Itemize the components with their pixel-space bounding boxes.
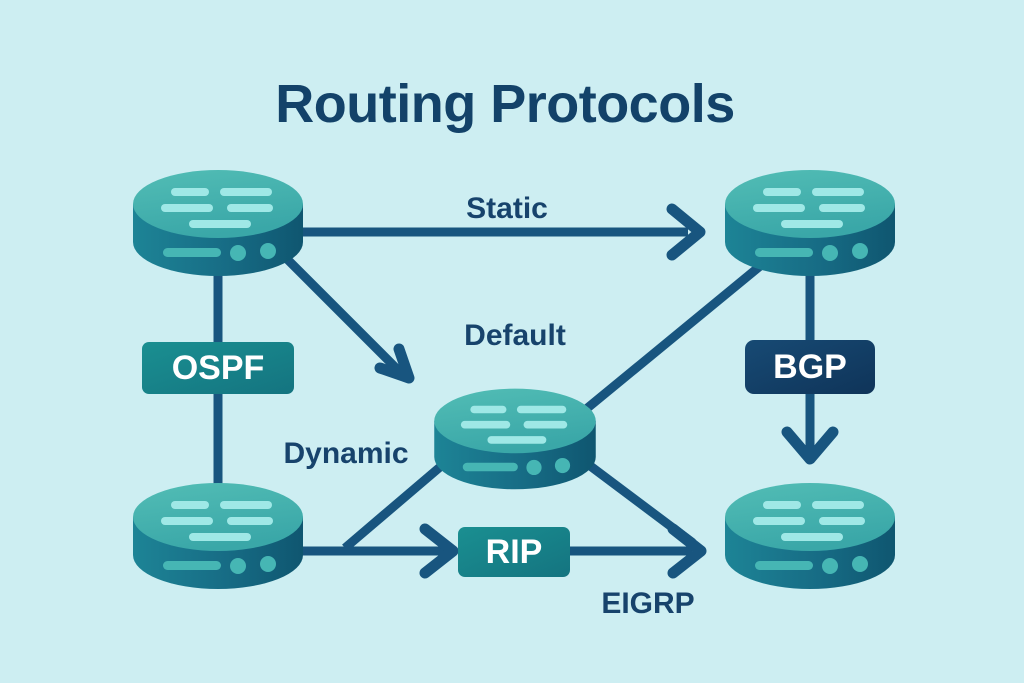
page-title: Routing Protocols bbox=[275, 74, 734, 134]
router-top-left[interactable] bbox=[133, 170, 303, 276]
badge-rip-label: RIP bbox=[486, 533, 543, 571]
edge-label-eigrp: EIGRP bbox=[601, 587, 694, 620]
badge-bgp[interactable]: BGP bbox=[745, 340, 875, 394]
edge-center-topright-line bbox=[585, 262, 765, 410]
edge-label-static: Static bbox=[466, 192, 548, 225]
router-top-right[interactable] bbox=[725, 170, 895, 276]
routing-protocols-diagram: Routing Protocols bbox=[0, 0, 1024, 683]
badge-rip[interactable]: RIP bbox=[458, 527, 570, 577]
badge-ospf-label: OSPF bbox=[172, 349, 265, 387]
router-bottom-right[interactable] bbox=[725, 483, 895, 589]
edge-center-bottomright-line bbox=[585, 462, 693, 543]
edge-default-line bbox=[283, 255, 400, 372]
edge-label-dynamic: Dynamic bbox=[283, 437, 408, 470]
router-bottom-left[interactable] bbox=[133, 483, 303, 589]
diagram-canvas: Routing Protocols bbox=[0, 0, 1024, 683]
router-center[interactable] bbox=[434, 389, 596, 490]
edge-label-default: Default bbox=[464, 319, 566, 352]
badge-bgp-label: BGP bbox=[773, 348, 847, 386]
badge-ospf[interactable]: OSPF bbox=[142, 342, 294, 394]
